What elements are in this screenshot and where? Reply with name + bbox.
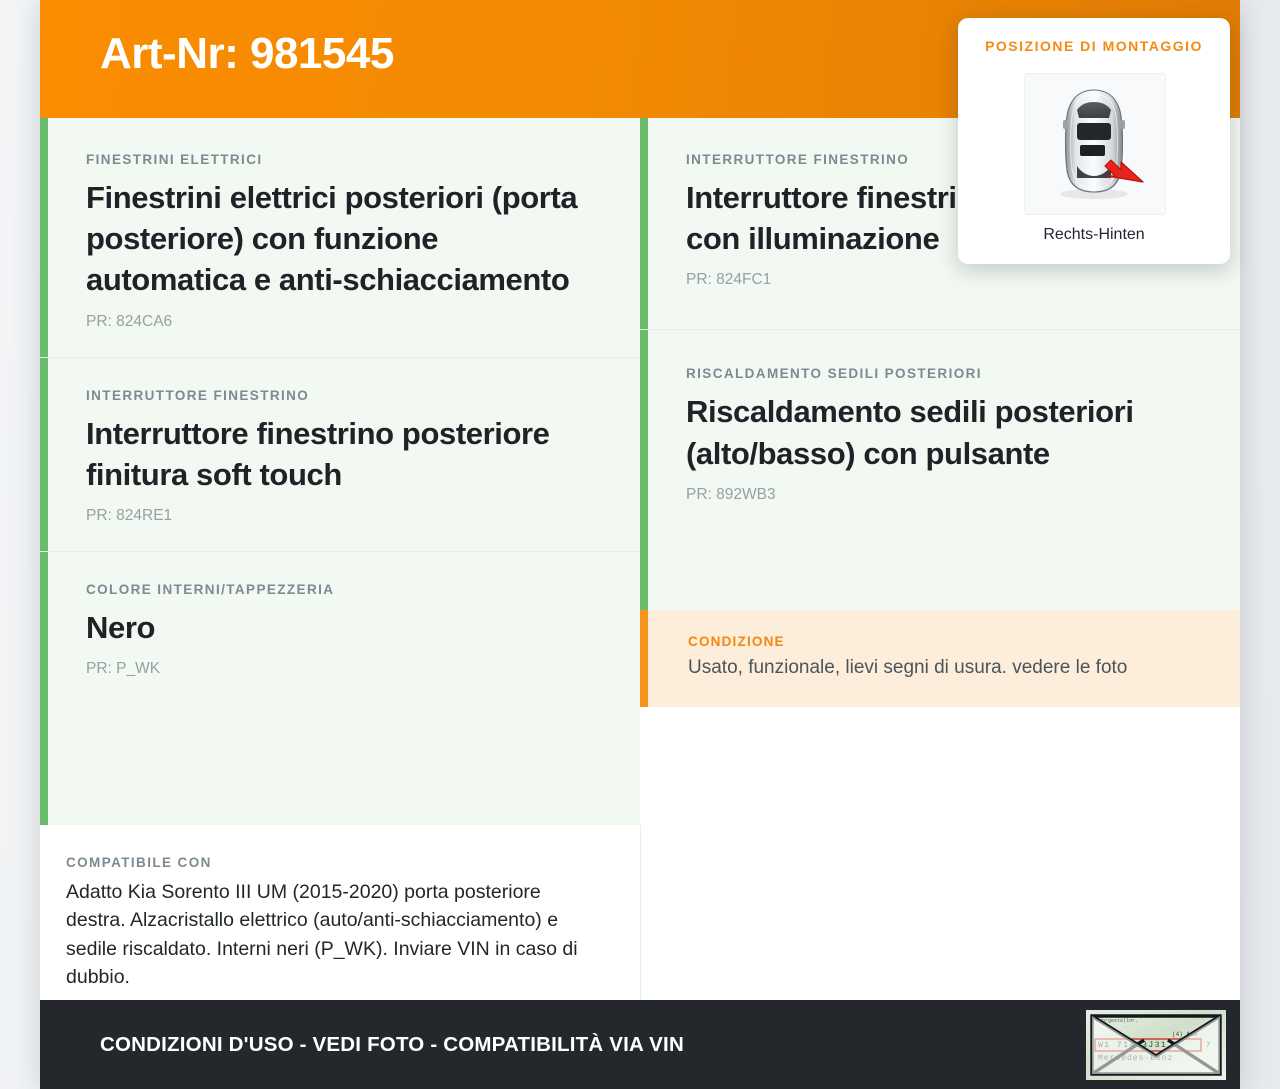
spec-pr-code: PR: P_WK (86, 660, 594, 678)
spec-pr-code: PR: 824FC1 (686, 271, 1194, 289)
spec-card[interactable]: COLORE INTERNI/TAPPEZZERIA Nero PR: P_WK (40, 551, 640, 704)
compatibility-block: COMPATIBILE CON Adatto Kia Sorento III U… (40, 825, 640, 1000)
listing-page: Art-Nr: 981545 FINESTRINI ELETTRICI Fine… (40, 0, 1240, 1089)
spec-kicker: RISCALDAMENTO SEDILI POSTERIORI (686, 366, 1194, 381)
left-spec-group: FINESTRINI ELETTRICI Finestrini elettric… (40, 118, 640, 825)
car-top-view-icon (1024, 73, 1166, 215)
mounting-popup-title: POSIZIONE DI MONTAGGIO (958, 38, 1230, 54)
footer-label: CONDIZIONI D'USO - VEDI FOTO - COMPATIBI… (100, 1033, 684, 1057)
condition-kicker: CONDIZIONE (688, 634, 1194, 649)
vin-envelope-icon: Fahrgestellnr. (4) A18 W1 71463J31 2 7 M… (1086, 1010, 1226, 1080)
compatibility-kicker: COMPATIBILE CON (66, 855, 600, 870)
spec-title: Interruttore finestrino posteriore finit… (86, 413, 594, 495)
footer-bar: CONDIZIONI D'USO - VEDI FOTO - COMPATIBI… (40, 1000, 1240, 1089)
spec-pr-code: PR: 824CA6 (86, 313, 594, 331)
page-title: Art-Nr: 981545 (100, 30, 394, 78)
mounting-position-popup[interactable]: POSIZIONE DI MONTAGGIO (958, 18, 1230, 264)
condition-text: Usato, funzionale, lievi segni di usura.… (688, 655, 1194, 681)
spec-pr-code: PR: 824RE1 (86, 507, 594, 525)
spec-kicker: INTERRUTTORE FINESTRINO (86, 388, 594, 403)
compatibility-text: Adatto Kia Sorento III UM (2015-2020) po… (66, 878, 600, 991)
spec-title: Riscaldamento sedili posteriori (alto/ba… (686, 391, 1194, 473)
spec-title: Finestrini elettrici posteriori (porta p… (86, 177, 594, 301)
spec-pr-code: PR: 892WB3 (686, 486, 1194, 504)
mounting-popup-caption: Rechts-Hinten (958, 226, 1230, 244)
spec-card[interactable]: INTERRUTTORE FINESTRINO Interruttore fin… (40, 357, 640, 551)
spec-card[interactable]: FINESTRINI ELETTRICI Finestrini elettric… (40, 118, 640, 357)
spec-kicker: COLORE INTERNI/TAPPEZZERIA (86, 582, 594, 597)
spec-title: Nero (86, 607, 594, 648)
spec-kicker: FINESTRINI ELETTRICI (86, 152, 594, 167)
condition-block: CONDIZIONE Usato, funzionale, lievi segn… (640, 610, 1240, 707)
column-divider (640, 825, 641, 1000)
spec-card[interactable]: RISCALDAMENTO SEDILI POSTERIORI Riscalda… (640, 329, 1240, 529)
